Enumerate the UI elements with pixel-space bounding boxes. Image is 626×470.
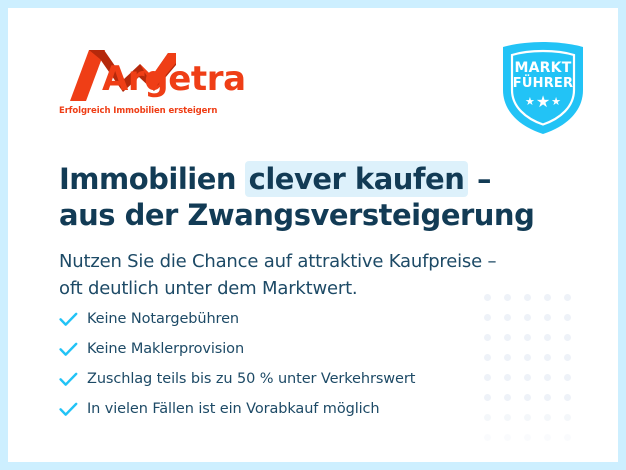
decorative-dot bbox=[564, 314, 571, 321]
headline-line1-before: Immobilien bbox=[59, 162, 246, 196]
decorative-dot bbox=[544, 394, 551, 401]
headline-line1-after: – bbox=[467, 162, 491, 196]
subheading-line1: Nutzen Sie die Chance auf attraktive Kau… bbox=[59, 251, 496, 272]
benefit-list: Keine NotargebührenKeine Maklerprovision… bbox=[59, 304, 519, 424]
decorative-dot bbox=[564, 354, 571, 361]
list-item: Keine Notargebühren bbox=[59, 304, 519, 334]
decorative-dot bbox=[484, 434, 491, 441]
decorative-dot bbox=[544, 334, 551, 341]
decorative-dot bbox=[524, 334, 531, 341]
headline-line2: aus der Zwangsversteigerung bbox=[59, 198, 534, 232]
decorative-dot bbox=[544, 354, 551, 361]
decorative-dot bbox=[564, 434, 571, 441]
decorative-dot bbox=[564, 334, 571, 341]
shield-icon bbox=[497, 40, 589, 136]
decorative-dot bbox=[544, 434, 551, 441]
decorative-dot bbox=[524, 394, 531, 401]
logo-wordmark: Argetra bbox=[102, 62, 246, 96]
check-icon bbox=[59, 372, 87, 387]
argetra-logo: Argetra Erfolgreich Immobilien ersteiger… bbox=[56, 45, 256, 123]
promo-frame: Argetra Erfolgreich Immobilien ersteiger… bbox=[0, 0, 626, 470]
decorative-dot bbox=[544, 374, 551, 381]
decorative-dot bbox=[524, 374, 531, 381]
decorative-dot bbox=[564, 394, 571, 401]
check-icon bbox=[59, 342, 87, 357]
page-title: Immobilien clever kaufen – aus der Zwang… bbox=[59, 161, 589, 233]
market-leader-badge: MARKT FÜHRER ★ ★ ★ bbox=[497, 40, 589, 136]
subheading-line2: oft deutlich unter dem Marktwert. bbox=[59, 278, 357, 299]
list-item-label: Keine Notargebühren bbox=[87, 311, 239, 327]
check-icon bbox=[59, 312, 87, 327]
decorative-dot bbox=[564, 374, 571, 381]
list-item: Keine Maklerprovision bbox=[59, 334, 519, 364]
subheading: Nutzen Sie die Chance auf attraktive Kau… bbox=[59, 248, 579, 302]
decorative-dot bbox=[544, 414, 551, 421]
list-item-label: In vielen Fällen ist ein Vorabkauf mögli… bbox=[87, 401, 380, 417]
decorative-dot bbox=[524, 414, 531, 421]
decorative-dot bbox=[524, 434, 531, 441]
headline-highlight: clever kaufen bbox=[245, 161, 469, 197]
decorative-dot bbox=[564, 414, 571, 421]
list-item: Zuschlag teils bis zu 50 % unter Verkehr… bbox=[59, 364, 519, 394]
decorative-dot bbox=[524, 314, 531, 321]
logo-tagline: Erfolgreich Immobilien ersteigern bbox=[59, 106, 217, 116]
check-icon bbox=[59, 402, 87, 417]
decorative-dot bbox=[504, 434, 511, 441]
promo-card: Argetra Erfolgreich Immobilien ersteiger… bbox=[8, 8, 618, 462]
decorative-dot bbox=[544, 314, 551, 321]
list-item-label: Zuschlag teils bis zu 50 % unter Verkehr… bbox=[87, 371, 415, 387]
list-item-label: Keine Maklerprovision bbox=[87, 341, 244, 357]
list-item: In vielen Fällen ist ein Vorabkauf mögli… bbox=[59, 394, 519, 424]
decorative-dot bbox=[524, 354, 531, 361]
